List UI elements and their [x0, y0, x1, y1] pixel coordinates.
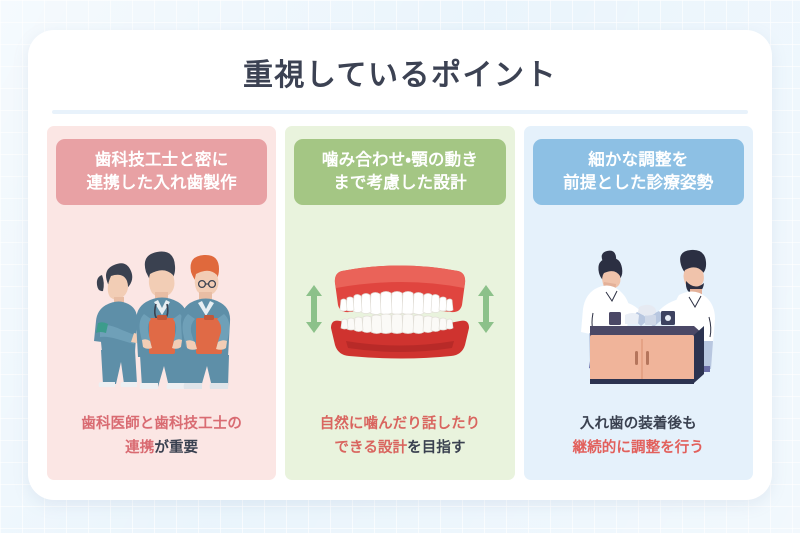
- panel-3-caption-line2: 継続的に調整を行う: [573, 437, 704, 460]
- panel-1-badge-line2: 連携した入れ歯製作: [60, 171, 263, 194]
- panel-2-figure: [294, 205, 505, 413]
- panel-2-caption-line2: できる設計を目指す: [320, 437, 481, 460]
- panel-1-badge-line1: 歯科技工士と密に: [60, 148, 263, 171]
- panel-1-caption-rest: が重要: [154, 440, 198, 456]
- panel-3-figure: [533, 205, 744, 413]
- panel-2-caption-highlight: できる設計: [334, 440, 407, 456]
- panel-2-caption: 自然に噛んだり話したり できる設計を目指す: [320, 413, 481, 466]
- dental-team-illustration: [78, 226, 246, 392]
- up-down-arrow-left: [306, 285, 322, 333]
- panel-2-caption-rest: を目指す: [407, 440, 465, 456]
- panel-3-badge: 細かな調整を 前提とした診療姿勢: [533, 139, 744, 205]
- panel-ongoing-adjustment-policy: 細かな調整を 前提とした診療姿勢: [524, 126, 753, 480]
- panel-3-badge-line2: 前提とした診療姿勢: [537, 171, 740, 194]
- panel-2-badge-line2: まで考慮した設計: [298, 171, 501, 194]
- panel-1-badge: 歯科技工士と密に 連携した入れ歯製作: [56, 139, 267, 205]
- dental-lab-workbench-illustration: [549, 229, 727, 389]
- page-title: 重視しているポイント: [28, 30, 772, 94]
- panel-2-badge-line1: 噛み合わせ・顎の動き: [298, 148, 501, 171]
- panel-1-caption: 歯科医師と歯科技工士の 連携が重要: [81, 413, 242, 466]
- dentures-with-arrows-illustration: [296, 249, 504, 369]
- panel-3-caption: 入れ歯の装着後も 継続的に調整を行う: [573, 413, 704, 466]
- content-card: 重視しているポイント 歯科技工士と密に 連携した入れ歯製作: [28, 30, 772, 500]
- panel-dental-technician-collaboration: 歯科技工士と密に 連携した入れ歯製作: [47, 126, 276, 480]
- panel-occlusion-jaw-movement-design: 噛み合わせ・顎の動き まで考慮した設計: [285, 126, 514, 480]
- panel-1-caption-line2: 連携が重要: [81, 437, 242, 460]
- up-down-arrow-right: [478, 285, 494, 333]
- panel-2-caption-line1: 自然に噛んだり話したり: [320, 413, 481, 436]
- panel-1-caption-line1: 歯科医師と歯科技工士の: [81, 413, 242, 436]
- panel-3-caption-line1: 入れ歯の装着後も: [573, 413, 704, 436]
- panel-2-badge: 噛み合わせ・顎の動き まで考慮した設計: [294, 139, 505, 205]
- panel-3-badge-line1: 細かな調整を: [537, 148, 740, 171]
- panel-1-figure: [56, 205, 267, 413]
- panel-1-caption-highlight: 連携: [125, 440, 154, 456]
- panel-columns: 歯科技工士と密に 連携した入れ歯製作: [28, 114, 772, 480]
